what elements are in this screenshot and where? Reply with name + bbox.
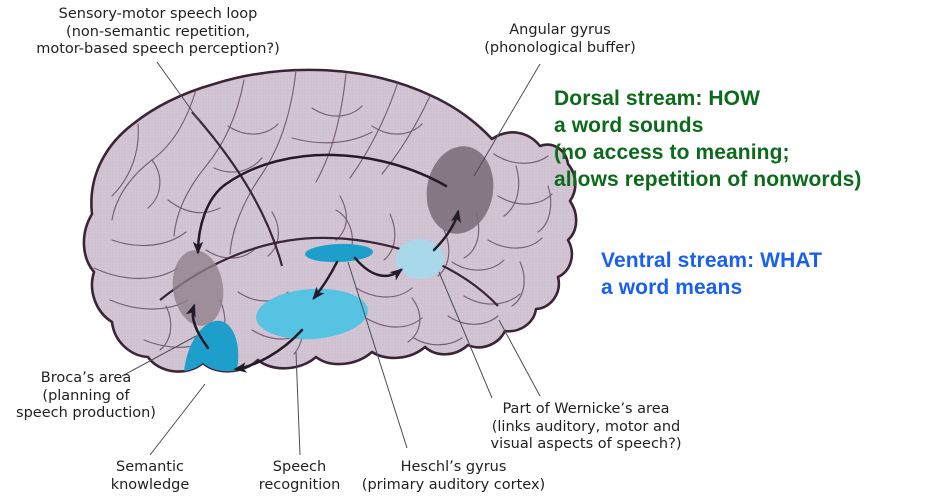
label-line: Speech: [273, 459, 326, 475]
label-line: (primary auditory cortex): [362, 477, 545, 493]
label-semantic-knowledge: Semantic knowledge: [80, 459, 220, 494]
region-wernickes-area: [396, 239, 444, 279]
label-line: (non-semantic repetition,: [66, 24, 250, 40]
label-brocas-area: Broca’s area (planning of speech product…: [6, 370, 166, 423]
ventral-stream-annotation: Ventral stream: WHAT a word means: [601, 248, 822, 302]
label-sensory-motor-speech-loop: Sensory-motor speech loop (non-semantic …: [8, 6, 308, 59]
label-line: (planning of: [42, 388, 129, 404]
label-line: Angular gyrus: [509, 22, 610, 38]
ventral-stream-line: Ventral stream: WHAT: [601, 249, 822, 272]
label-line: Heschl’s gyrus: [401, 459, 507, 475]
label-angular-gyrus: Angular gyrus (phonological buffer): [455, 22, 665, 57]
label-line: recognition: [259, 477, 341, 493]
label-line: Broca’s area: [41, 370, 131, 386]
label-line: knowledge: [111, 477, 190, 493]
label-line: motor-based speech perception?): [36, 41, 280, 57]
label-line: Sensory-motor speech loop: [59, 6, 258, 22]
ventral-stream-line: a word means: [601, 276, 742, 299]
label-line: Semantic: [116, 459, 184, 475]
dorsal-stream-line: (no access to meaning;: [554, 141, 790, 164]
leader-wernickes-2: [499, 320, 540, 396]
label-line: (links auditory, motor and: [492, 419, 681, 435]
label-line: (phonological buffer): [484, 40, 636, 56]
label-line: Part of Wernicke’s area: [502, 401, 669, 417]
label-heschls-gyrus: Heschl’s gyrus (primary auditory cortex): [341, 459, 566, 494]
label-line: speech production): [16, 405, 156, 421]
dorsal-stream-line: a word sounds: [554, 114, 703, 137]
dorsal-stream-line: Dorsal stream: HOW: [554, 87, 760, 110]
dorsal-stream-annotation: Dorsal stream: HOW a word sounds (no acc…: [554, 86, 862, 194]
dorsal-stream-line: allows repetition of nonwords): [554, 168, 862, 191]
label-line: visual aspects of speech?): [491, 436, 682, 452]
label-part-of-wernickes-area: Part of Wernicke’s area (links auditory,…: [466, 401, 706, 454]
brain-language-diagram: Sensory-motor speech loop (non-semantic …: [0, 0, 927, 500]
